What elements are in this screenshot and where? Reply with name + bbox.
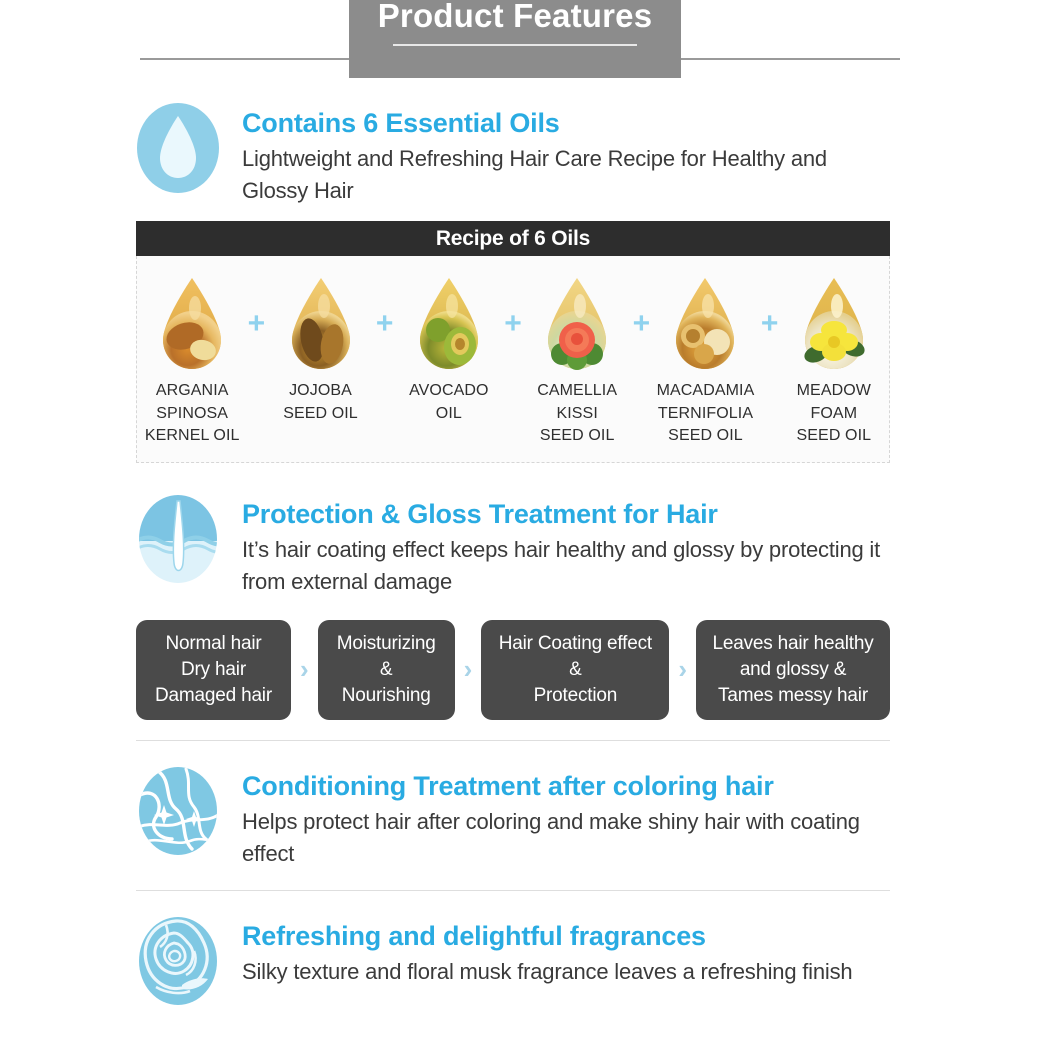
flow-step-box: Normal hair Dry hair Damaged hair [136, 620, 291, 720]
argan-oil-droplet-icon [149, 274, 235, 374]
flowing-hair-sparkle-icon [136, 765, 220, 857]
oil-item-avocado: AVOCADO OIL [398, 274, 500, 425]
oil-item-macadamia: MACADAMIA TERNIFOLIA SEED OIL [654, 274, 756, 448]
oil-item-meadowfoam: MEADOW FOAM SEED OIL [783, 274, 885, 448]
oil-item-jojoba: JOJOBA SEED OIL [269, 274, 371, 425]
feature-row-conditioning: Conditioning Treatment after coloring ha… [0, 765, 1040, 870]
oil-item-camellia: CAMELLIA KISSI SEED OIL [526, 274, 628, 448]
treatment-flow-diagram: Normal hair Dry hair Damaged hair › Mois… [136, 620, 890, 720]
feature-row-fragrance: Refreshing and delightful fragrances Sil… [0, 915, 1040, 1007]
feature-heading: Refreshing and delightful fragrances [242, 919, 890, 953]
oil-label: CAMELLIA KISSI SEED OIL [537, 380, 617, 448]
page-title-box: Product Features [349, 0, 681, 78]
recipe-oil-list: ARGANIA SPINOSA KERNEL OIL + [136, 256, 890, 463]
plus-separator-icon: + [628, 274, 654, 374]
page-header: Product Features [0, 0, 1040, 80]
flow-arrow-icon: › [291, 620, 318, 720]
recipe-panel-title: Recipe of 6 Oils [436, 227, 590, 251]
flow-arrow-icon: › [669, 620, 696, 720]
feature-body: Helps protect hair after coloring and ma… [242, 806, 890, 870]
oil-label: AVOCADO OIL [409, 380, 489, 425]
feature-text-block: Protection & Gloss Treatment for Hair It… [242, 493, 890, 598]
argan-oil-droplet-icon-svg [149, 274, 235, 374]
camellia-oil-droplet-icon [534, 274, 620, 374]
feature-heading: Conditioning Treatment after coloring ha… [242, 769, 890, 803]
meadowfoam-oil-droplet-icon-svg [791, 274, 877, 374]
jojoba-oil-droplet-icon-svg [278, 274, 364, 374]
water-droplet-icon [136, 102, 220, 194]
flowing-hair-sparkle-icon-svg [136, 765, 220, 857]
recipe-panel-header: Recipe of 6 Oils [136, 221, 890, 256]
feature-text-block: Conditioning Treatment after coloring ha… [242, 765, 890, 870]
flow-arrow-icon: › [455, 620, 482, 720]
features-content: Contains 6 Essential Oils Lightweight an… [0, 102, 1040, 1007]
section-divider [136, 740, 890, 741]
flow-step-box: Hair Coating effect & Protection [481, 620, 669, 720]
feature-row-protection-gloss: Protection & Gloss Treatment for Hair It… [0, 493, 1040, 598]
hair-follicle-icon-svg [136, 493, 220, 585]
page-title: Product Features [378, 0, 653, 38]
plus-separator-icon: + [243, 274, 269, 374]
feature-text-block: Refreshing and delightful fragrances Sil… [242, 915, 890, 988]
feature-body: Silky texture and floral musk fragrance … [242, 956, 890, 988]
hair-follicle-icon [136, 493, 220, 585]
oil-label: JOJOBA SEED OIL [283, 380, 358, 425]
avocado-oil-droplet-icon-svg [406, 274, 492, 374]
oil-item-argania: ARGANIA SPINOSA KERNEL OIL [141, 274, 243, 448]
oil-label: MEADOW FOAM SEED OIL [797, 380, 872, 448]
jojoba-oil-droplet-icon [278, 274, 364, 374]
flow-step-box: Leaves hair healthy and glossy & Tames m… [696, 620, 890, 720]
macadamia-oil-droplet-icon-svg [662, 274, 748, 374]
feature-body: It’s hair coating effect keeps hair heal… [242, 534, 890, 598]
title-underline [393, 44, 637, 46]
section-divider [136, 890, 890, 891]
feature-heading: Protection & Gloss Treatment for Hair [242, 497, 890, 531]
rose-flower-icon [136, 915, 220, 1007]
macadamia-oil-droplet-icon [662, 274, 748, 374]
feature-heading: Contains 6 Essential Oils [242, 106, 890, 140]
feature-body: Lightweight and Refreshing Hair Care Rec… [242, 143, 890, 207]
plus-separator-icon: + [372, 274, 398, 374]
avocado-oil-droplet-icon [406, 274, 492, 374]
feature-text-block: Contains 6 Essential Oils Lightweight an… [242, 102, 890, 207]
oil-label: MACADAMIA TERNIFOLIA SEED OIL [657, 380, 755, 448]
camellia-oil-droplet-icon-svg [534, 274, 620, 374]
plus-separator-icon: + [500, 274, 526, 374]
flow-step-box: Moisturizing & Nourishing [318, 620, 455, 720]
plus-separator-icon: + [757, 274, 783, 374]
feature-row-essential-oils: Contains 6 Essential Oils Lightweight an… [0, 102, 1040, 207]
water-droplet-icon-svg [136, 102, 220, 194]
oil-label: ARGANIA SPINOSA KERNEL OIL [145, 380, 240, 448]
recipe-panel: Recipe of 6 Oils [136, 221, 890, 463]
meadowfoam-oil-droplet-icon [791, 274, 877, 374]
rose-flower-icon-svg [136, 915, 220, 1007]
